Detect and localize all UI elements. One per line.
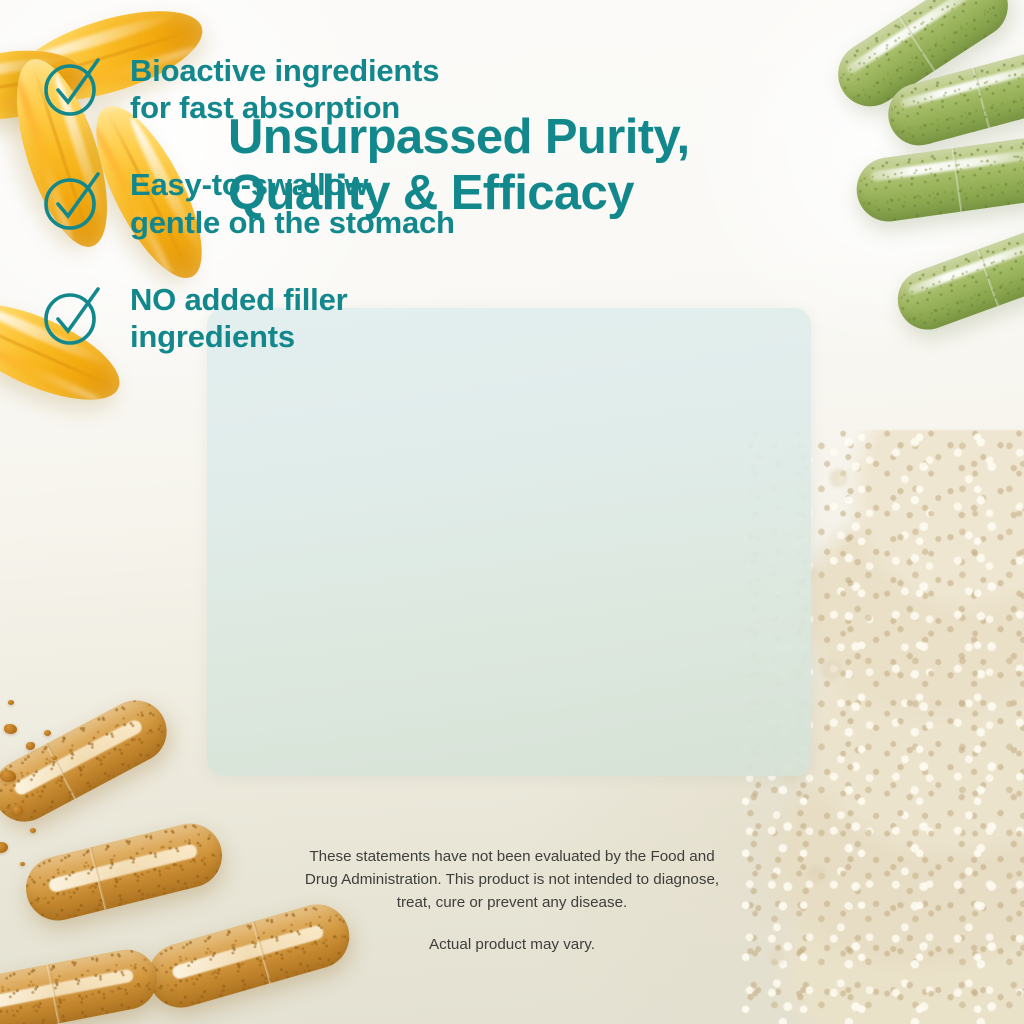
fda-disclaimer: These statements have not been evaluated… (202, 845, 822, 914)
list-item: Easy-to-swallow, gentle on the stomach (42, 164, 572, 240)
list-item-label: Easy-to-swallow, gentle on the stomach (130, 164, 455, 240)
product-variance-note: Actual product may vary. (202, 936, 822, 953)
benefits-list: Bioactive ingredients for fast absorptio… (42, 50, 572, 355)
list-item: NO added filler ingredients (42, 279, 572, 355)
turmeric-capsule (141, 897, 357, 1015)
list-item-label: NO added filler ingredients (130, 279, 347, 355)
green-capsule (889, 218, 1024, 338)
turmeric-capsule (19, 817, 229, 927)
benefits-panel (207, 308, 811, 776)
check-circle-icon (42, 285, 104, 347)
check-circle-icon (42, 56, 104, 118)
check-circle-icon (42, 170, 104, 232)
list-item-label: Bioactive ingredients for fast absorptio… (130, 50, 439, 126)
green-capsule (853, 134, 1024, 225)
list-item: Bioactive ingredients for fast absorptio… (42, 50, 572, 126)
turmeric-capsule (0, 944, 162, 1024)
product-benefits-graphic: Unsurpassed Purity, Quality & Efficacy B… (0, 0, 1024, 1024)
turmeric-capsule (0, 689, 178, 832)
